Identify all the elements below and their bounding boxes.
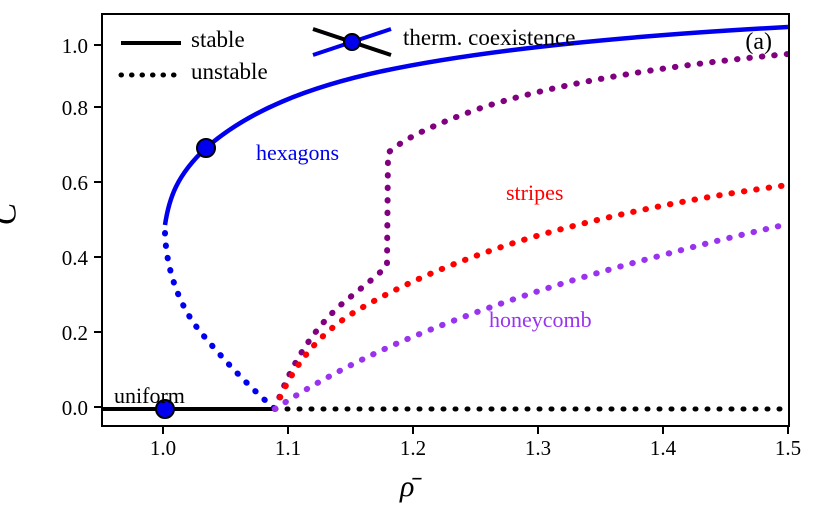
annotation-stripes: stripes [506,180,563,206]
y-tick-label-1: 0.2 [28,321,88,346]
y-tick-label-5: 1.0 [28,34,88,59]
y-tick-label-0: 0.0 [28,396,88,421]
y-axis-label: C [0,203,24,226]
x-tick-label-3: 1.3 [503,436,573,461]
plot-area: stable unstable therm. coexistence (a) h… [101,13,790,427]
marker-coexistence-hexagons [197,139,215,157]
annotation-uniform: uniform [114,383,185,409]
legend-coexistence-swatch [307,23,397,63]
x-axis-label: ρ̄ [400,470,414,504]
annotation-hexagons: hexagons [256,140,339,166]
legend-cross-dot [344,34,360,50]
x-tick-label-4: 1.4 [628,436,698,461]
y-tick-label-2: 0.4 [28,246,88,271]
x-tick-label-0: 1.0 [128,436,198,461]
legend-label-coexistence: therm. coexistence [403,25,575,51]
figure-panel-a: stable unstable therm. coexistence (a) h… [0,0,830,515]
x-tick-label-5: 1.5 [753,436,823,461]
y-tick-marks [94,10,104,430]
curve-dark-purple-unstable [275,54,788,409]
legend-label-unstable: unstable [191,59,268,85]
x-tick-label-2: 1.2 [378,436,448,461]
y-tick-label-3: 0.6 [28,171,88,196]
y-tick-label-4: 0.8 [28,96,88,121]
x-tick-label-1: 1.1 [253,436,323,461]
annotation-honeycomb: honeycomb [489,307,592,333]
panel-label: (a) [745,29,772,56]
legend-label-stable: stable [191,27,245,53]
